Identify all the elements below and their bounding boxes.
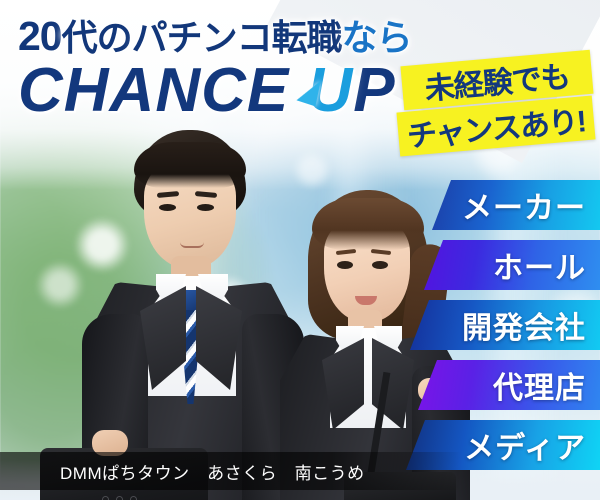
caption-text: DMMぱちタウン あさくら 南こうめ (0, 459, 365, 484)
headline-age-suffix: 代の (62, 17, 132, 58)
male-fringe (134, 142, 246, 188)
headline-age-number: 20 (18, 13, 62, 59)
briefcase-stud (116, 496, 123, 500)
briefcase-stud (102, 496, 109, 500)
headline-industry: パチンコ転職 (132, 17, 342, 58)
male-eye-right (197, 204, 214, 211)
headline-line-1: 20代のパチンコ転職なら (18, 16, 448, 57)
headline-particle: なら (342, 17, 412, 58)
category-button-agency[interactable]: 代理店 (418, 360, 600, 410)
female-eye-left (337, 261, 353, 269)
headline-up-p-letter: P (353, 56, 395, 125)
category-button-list: メーカー ホール 開発会社 代理店 メディア (390, 180, 600, 480)
male-mouth (180, 242, 204, 248)
category-button-hall[interactable]: ホール (424, 240, 600, 290)
category-label-agency: 代理店 (493, 363, 586, 407)
headline-chance-word: CHANCE (18, 56, 289, 125)
category-label-development-company: 開発会社 (462, 303, 586, 347)
category-label-hall: ホール (493, 243, 586, 287)
briefcase-stud (130, 496, 137, 500)
advertisement-banner[interactable]: 20代のパチンコ転職なら CHANCE UP 未経験でも チャンスあり! メーカ… (0, 0, 600, 500)
category-label-media: メディア (464, 423, 586, 467)
female-eye-right (372, 261, 388, 269)
category-label-maker: メーカー (462, 183, 586, 227)
category-button-development-company[interactable]: 開発会社 (410, 300, 600, 350)
headline-line-2: CHANCE UP (18, 59, 448, 122)
male-eye-left (159, 204, 176, 211)
headline-block: 20代のパチンコ転職なら CHANCE UP (18, 16, 448, 122)
category-button-maker[interactable]: メーカー (432, 180, 600, 230)
caption-bar: DMMぱちタウン あさくら 南こうめ (0, 452, 462, 490)
